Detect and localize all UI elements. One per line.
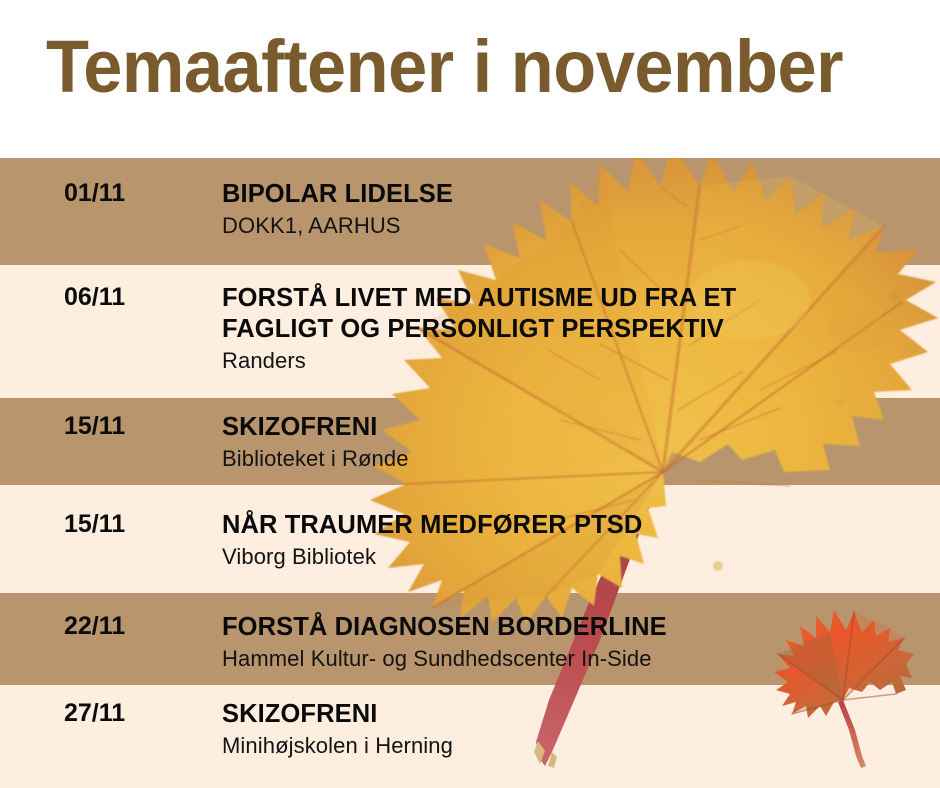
- event-title: NÅR TRAUMER MEDFØRER PTSD: [222, 510, 922, 541]
- event-title: FORSTÅ DIAGNOSEN BORDERLINE: [222, 612, 922, 643]
- event-body: FORSTÅ DIAGNOSEN BORDERLINE Hammel Kultu…: [222, 612, 922, 673]
- event-title: BIPOLAR LIDELSE: [222, 179, 922, 210]
- event-venue: Minihøjskolen i Herning: [222, 732, 922, 760]
- header-bar: Temaaftener i november: [0, 0, 940, 158]
- page-title: Temaaftener i november: [46, 30, 843, 104]
- event-title: SKIZOFRENI: [222, 412, 922, 443]
- event-body: NÅR TRAUMER MEDFØRER PTSD Viborg Bibliot…: [222, 510, 922, 571]
- event-date: 22/11: [64, 612, 125, 641]
- event-venue: DOKK1, AARHUS: [222, 212, 922, 240]
- event-venue: Viborg Bibliotek: [222, 543, 922, 571]
- event-venue: Randers: [222, 347, 922, 375]
- event-venue: Hammel Kultur- og Sundhedscenter In-Side: [222, 645, 922, 673]
- event-body: BIPOLAR LIDELSE DOKK1, AARHUS: [222, 179, 922, 240]
- event-body: SKIZOFRENI Minihøjskolen i Herning: [222, 699, 922, 760]
- event-title: FORSTÅ LIVET MED AUTISME UD FRA ET FAGLI…: [222, 283, 922, 345]
- event-date: 01/11: [64, 179, 125, 208]
- event-title: SKIZOFRENI: [222, 699, 922, 730]
- event-date: 15/11: [64, 510, 125, 539]
- event-body: SKIZOFRENI Biblioteket i Rønde: [222, 412, 922, 473]
- event-date: 27/11: [64, 699, 125, 728]
- event-body: FORSTÅ LIVET MED AUTISME UD FRA ET FAGLI…: [222, 283, 922, 375]
- poster-canvas: Temaaftener i november 01/11 BIPOLAR LID…: [0, 0, 940, 788]
- event-date: 15/11: [64, 412, 125, 441]
- event-date: 06/11: [64, 283, 125, 312]
- event-venue: Biblioteket i Rønde: [222, 445, 922, 473]
